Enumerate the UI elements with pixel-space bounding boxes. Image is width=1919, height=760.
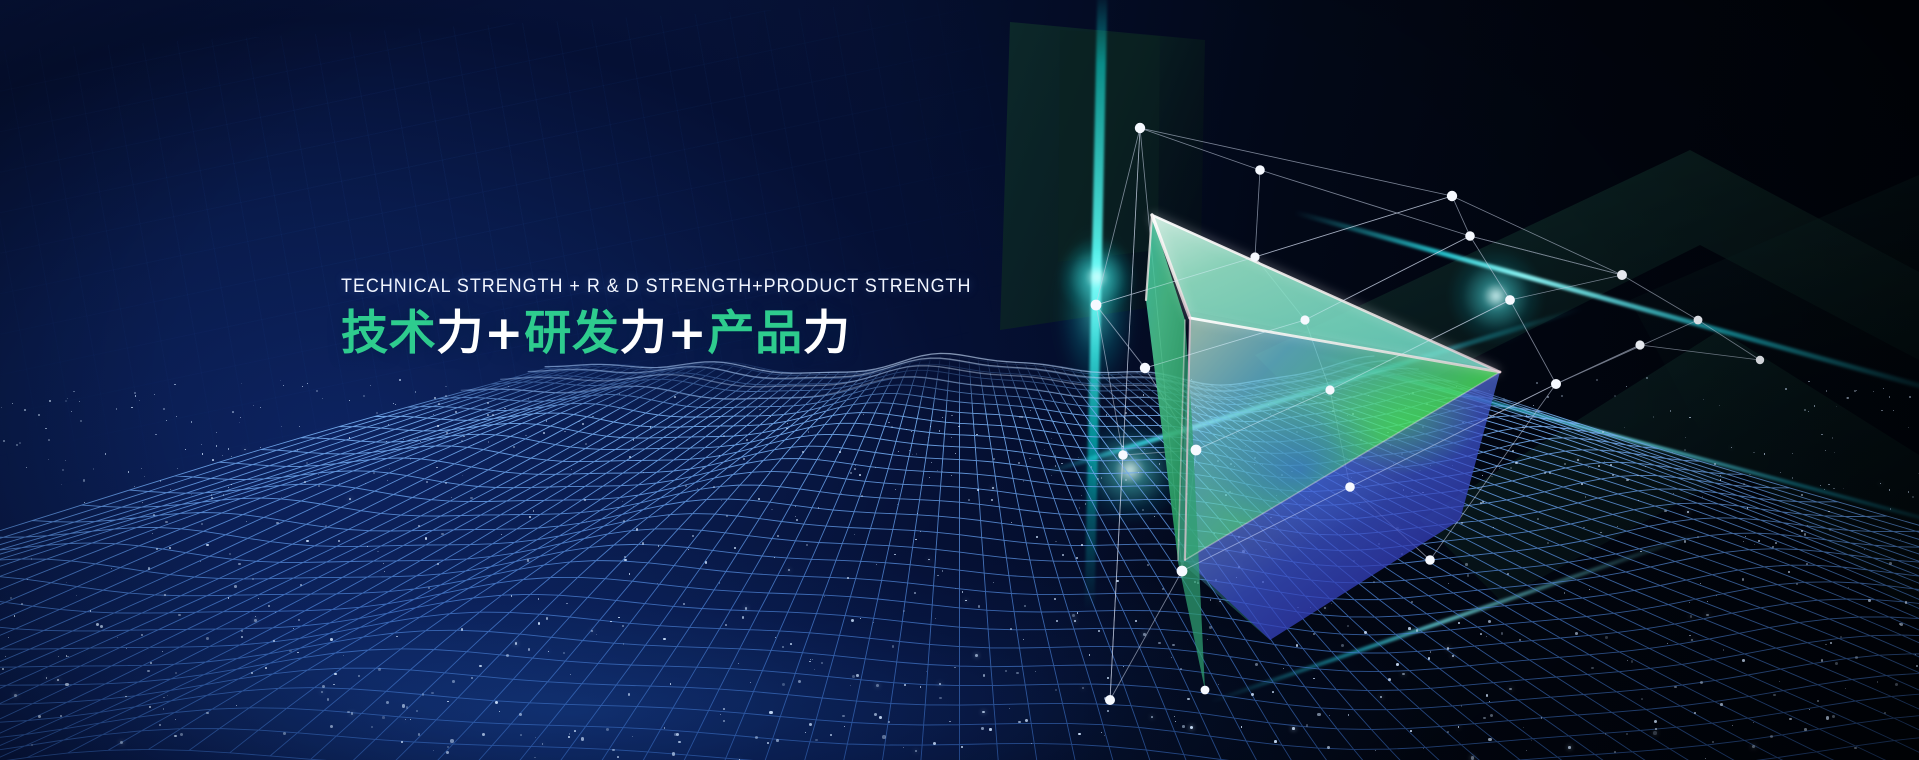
hero-headline: 技术力+研发力+产品力 xyxy=(341,306,1026,361)
headline-part-product: 产品 xyxy=(707,306,802,361)
headline-plus-1: + xyxy=(484,306,524,361)
prism-and-network xyxy=(0,0,1919,760)
hero-text-block: TECHNICAL STRENGTH + R & D STRENGTH+PROD… xyxy=(341,276,1026,362)
headline-part-tech: 技术 xyxy=(341,306,436,361)
headline-part-rnd: 研发 xyxy=(524,306,619,361)
headline-plus-2: + xyxy=(667,306,707,361)
headline-part-li-1: 力 xyxy=(436,306,484,361)
headline-part-li-2: 力 xyxy=(620,306,668,361)
headline-part-li-3: 力 xyxy=(803,306,851,361)
hero-banner: TECHNICAL STRENGTH + R & D STRENGTH+PROD… xyxy=(0,0,1919,760)
hero-eyebrow: TECHNICAL STRENGTH + R & D STRENGTH+PROD… xyxy=(341,276,971,297)
